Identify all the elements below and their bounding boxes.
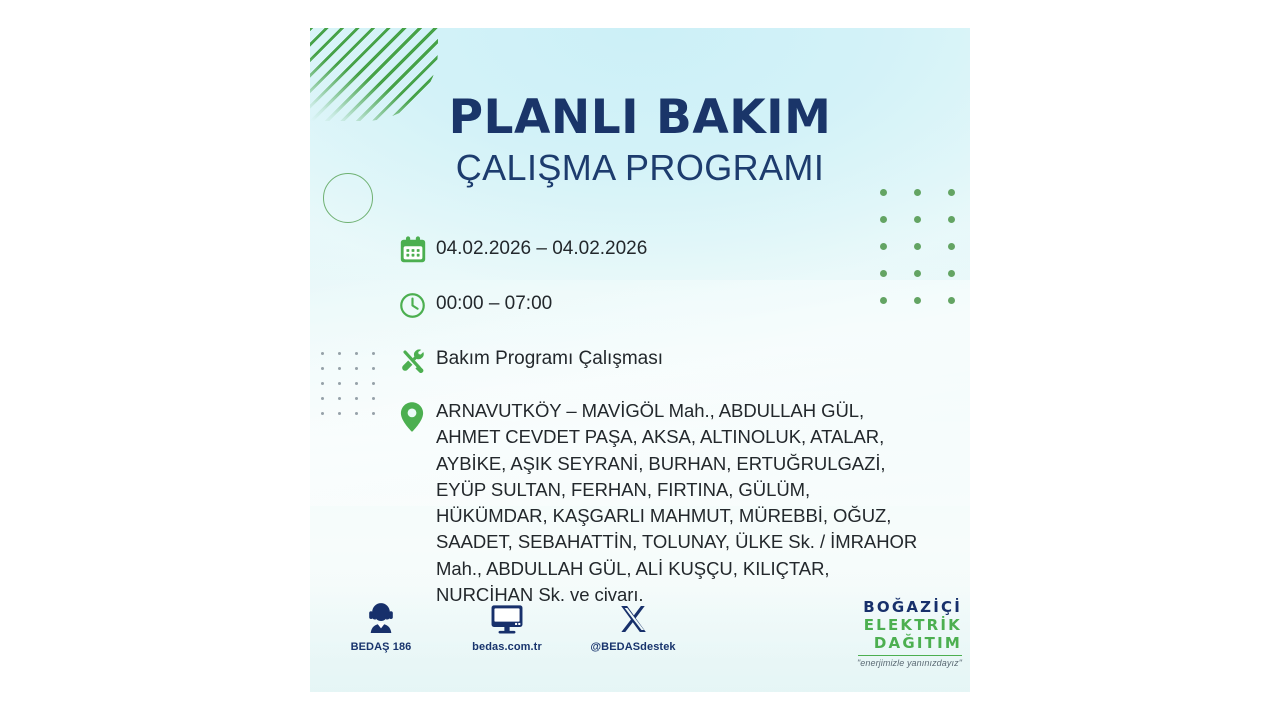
contact-phone-label: BEDAŞ 186 [338, 641, 424, 653]
time-range-value: 00:00 – 07:00 [436, 288, 552, 313]
brand-line-2: ELEKTRİK [857, 618, 962, 633]
location-text: ARNAVUTKÖY – MAVİGÖL Mah., ABDULLAH GÜL,… [436, 398, 917, 608]
dot-grid-decoration-left [321, 352, 389, 427]
brand-tagline: "enerjimizle yanınızdayız" [857, 659, 962, 668]
page-subtitle: ÇALIŞMA PROGRAMI [310, 150, 970, 186]
poster-page: PLANLI BAKIM ÇALIŞMA PROGRAMI [0, 0, 1280, 720]
info-row-work: Bakım Programı Çalışması [398, 343, 958, 377]
monitor-icon [464, 598, 550, 634]
clock-icon [398, 288, 436, 322]
location-line: AYBİKE, AŞIK SEYRANİ, BURHAN, ERTUĞRULGA… [436, 451, 917, 477]
page-title: PLANLI BAKIM [310, 94, 970, 141]
work-type-value: Bakım Programı Çalışması [436, 343, 663, 368]
info-row-time: 00:00 – 07:00 [398, 288, 958, 322]
location-pin-icon [398, 398, 436, 434]
info-list: 04.02.2026 – 04.02.2026 00:00 – 07:00 [398, 233, 958, 608]
date-range-value: 04.02.2026 – 04.02.2026 [436, 233, 647, 258]
call-center-agent-icon [338, 598, 424, 634]
contact-twitter[interactable]: @BEDASdestek [590, 598, 676, 653]
location-line: SAADET, SEBAHATTİN, TOLUNAY, ÜLKE Sk. / … [436, 529, 917, 555]
bedas-logo: BOĞAZİÇİ ELEKTRİK DAĞITIM "enerjimizle y… [857, 600, 962, 668]
location-line: HÜKÜMDAR, KAŞGARLI MAHMUT, MÜREBBİ, OĞUZ… [436, 503, 917, 529]
info-row-location: ARNAVUTKÖY – MAVİGÖL Mah., ABDULLAH GÜL,… [398, 398, 958, 608]
announcement-card: PLANLI BAKIM ÇALIŞMA PROGRAMI [310, 28, 970, 692]
poster-footer: BEDAŞ 186 bedas.com.tr [310, 598, 970, 672]
location-line: EYÜP SULTAN, FERHAN, FIRTINA, GÜLÜM, [436, 477, 917, 503]
x-twitter-icon [590, 598, 676, 634]
contact-website-label: bedas.com.tr [464, 641, 550, 653]
tools-icon [398, 343, 436, 377]
contact-phone[interactable]: BEDAŞ 186 [338, 598, 424, 653]
location-line: Mah., ABDULLAH GÜL, ALİ KUŞÇU, KILIÇTAR, [436, 556, 917, 582]
location-line: ARNAVUTKÖY – MAVİGÖL Mah., ABDULLAH GÜL, [436, 398, 917, 424]
contact-twitter-label: @BEDASdestek [590, 641, 676, 653]
brand-line-1: BOĞAZİÇİ [857, 600, 962, 615]
brand-divider [858, 655, 962, 656]
calendar-icon [398, 233, 436, 267]
contact-website[interactable]: bedas.com.tr [464, 598, 550, 653]
contact-list: BEDAŞ 186 bedas.com.tr [338, 598, 676, 653]
poster-header: PLANLI BAKIM ÇALIŞMA PROGRAMI [310, 94, 970, 186]
brand-line-3: DAĞITIM [857, 636, 962, 651]
info-row-date: 04.02.2026 – 04.02.2026 [398, 233, 958, 267]
location-line: AHMET CEVDET PAŞA, AKSA, ALTINOLUK, ATAL… [436, 424, 917, 450]
